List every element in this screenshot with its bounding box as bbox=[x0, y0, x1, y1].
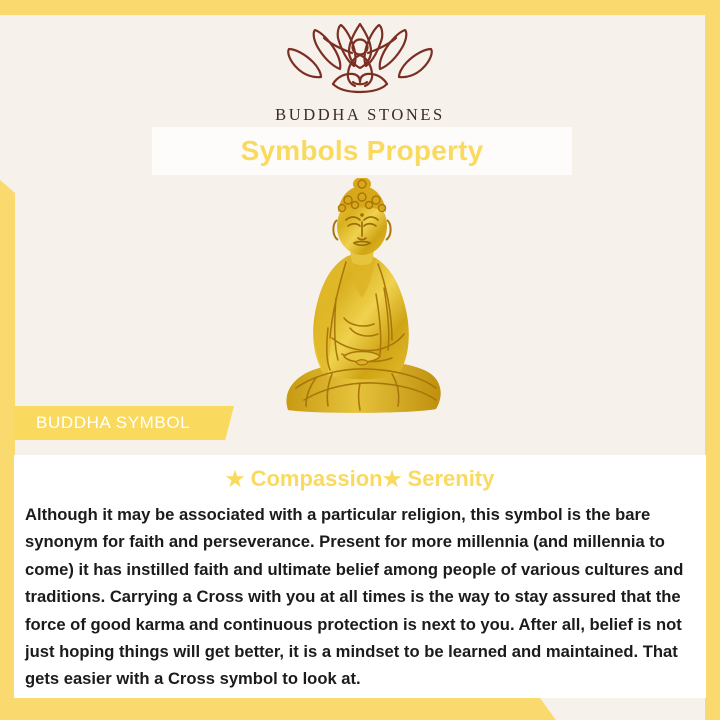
brand-header: BUDDHA STONES bbox=[0, 22, 720, 125]
bottom-accent-band bbox=[0, 698, 556, 720]
golden-seated-buddha-statue bbox=[272, 178, 448, 414]
symbols-property-poster: BUDDHA STONES Symbols Property bbox=[0, 0, 720, 720]
left-accent-band bbox=[0, 180, 15, 720]
symbol-category-tag: BUDDHA SYMBOL bbox=[14, 406, 234, 440]
virtues-heading: ★ Compassion★ Serenity bbox=[14, 455, 706, 492]
brand-name: BUDDHA STONES bbox=[0, 105, 720, 125]
virtue-label-compassion: Compassion bbox=[251, 466, 383, 491]
star-icon-second: ★ bbox=[383, 468, 402, 491]
description-paragraph: Although it may be associated with a par… bbox=[14, 492, 706, 693]
virtue-label-serenity: Serenity bbox=[408, 466, 495, 491]
symbol-category-label: BUDDHA SYMBOL bbox=[14, 413, 190, 433]
lotus-meditation-icon bbox=[0, 22, 720, 99]
star-icon-first: ★ bbox=[226, 468, 245, 491]
top-accent-band bbox=[0, 0, 720, 15]
description-card: ★ Compassion★ Serenity Although it may b… bbox=[14, 455, 706, 698]
title-banner: Symbols Property bbox=[152, 127, 572, 175]
page-title: Symbols Property bbox=[241, 135, 484, 167]
